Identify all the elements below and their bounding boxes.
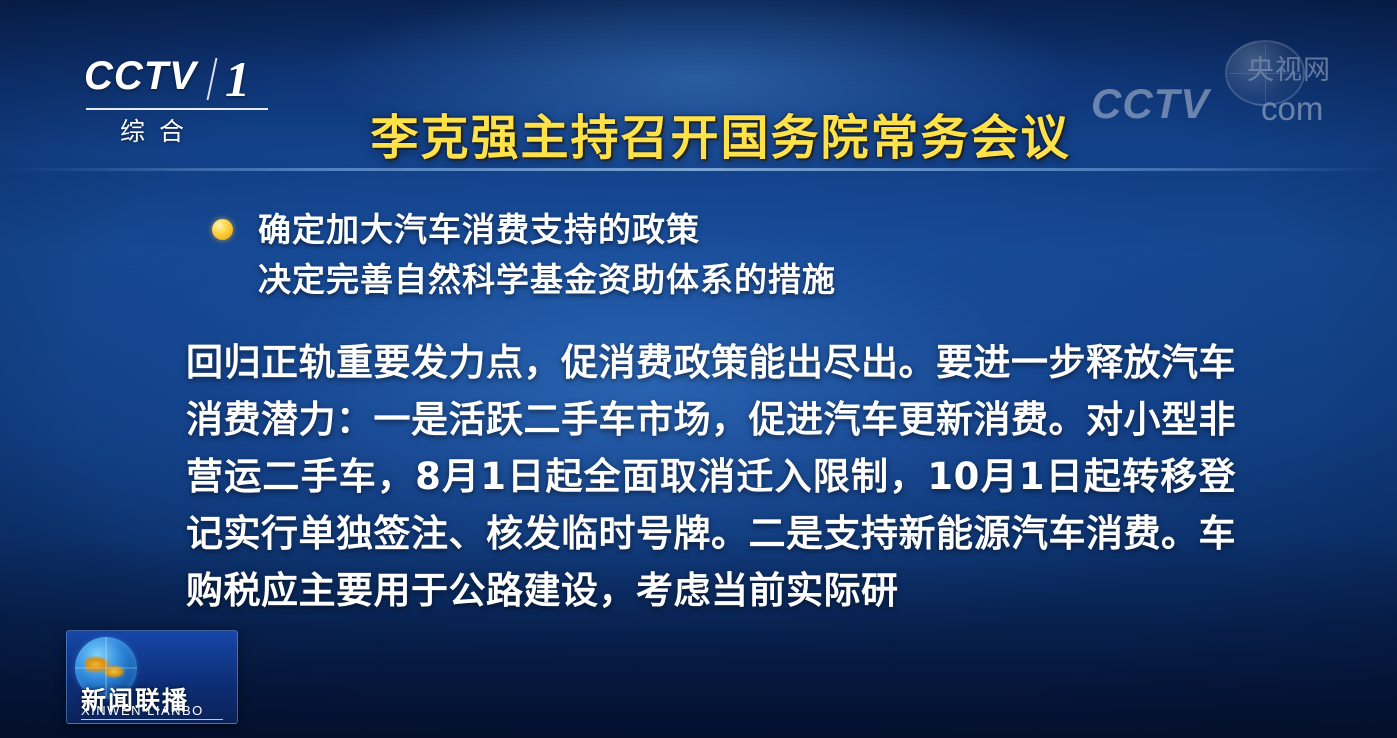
subheadline-line-1: 确定加大汽车消费支持的政策 [212, 205, 1212, 255]
logo-separator [207, 58, 218, 100]
broadcast-screen: CCTV 1 综合 央视网 CCTV com 李克强主持召开国务院常务会议 确定… [0, 0, 1397, 738]
body-paragraph: 回归正轨重要发力点，促消费政策能出尽出。要进一步释放汽车消费潜力：一是活跃二手车… [186, 334, 1236, 619]
cctv-wordmark: CCTV [84, 54, 197, 99]
watermark-cn-text: 央视网 [1247, 48, 1331, 87]
headline-title: 李克强主持召开国务院常务会议 [0, 98, 1397, 168]
program-pinyin: XINWEN LIANBO [81, 703, 204, 718]
subheadline-block: 确定加大汽车消费支持的政策 决定完善自然科学基金资助体系的措施 [212, 205, 1212, 305]
program-bug: 新闻联播 XINWEN LIANBO [66, 630, 238, 724]
bullet-dot-icon [212, 219, 233, 240]
program-pinyin-rule [81, 719, 223, 720]
subheadline-line-2: 决定完善自然科学基金资助体系的措施 [212, 255, 1212, 305]
